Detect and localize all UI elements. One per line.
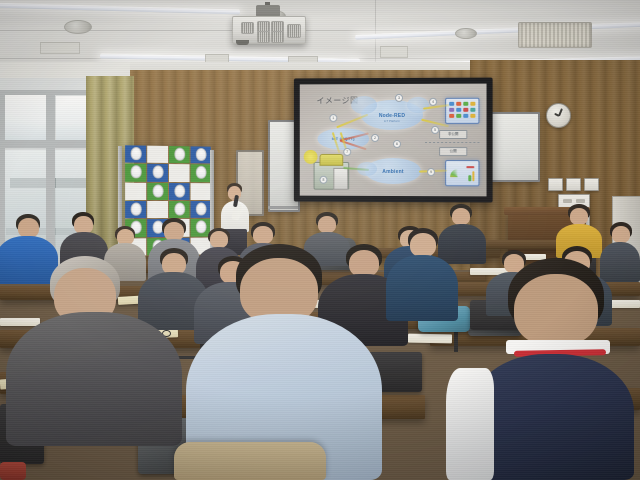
- banner-logo-icon: [195, 148, 206, 161]
- banner-cell: [125, 164, 146, 182]
- wall-control-panel[interactable]: [584, 178, 599, 191]
- banner-logo-icon: [152, 166, 163, 179]
- banner-cell: [169, 146, 190, 164]
- banner-logo-icon: [152, 184, 163, 197]
- photo-scene: イメージ図 Node-RED IoT Platform IoT (MQTT) A…: [0, 0, 640, 480]
- navy-vest: [470, 354, 634, 480]
- white-sleeve: [446, 368, 494, 480]
- banner-logo-icon: [195, 166, 206, 179]
- banner-cell: [147, 146, 168, 164]
- banner-logo-icon: [174, 148, 185, 161]
- ceiling-panel: [40, 42, 80, 54]
- step-number: 5: [431, 126, 439, 134]
- audience-member-front-right: [452, 258, 640, 480]
- sensor-solar-panel: [320, 154, 344, 166]
- window-pane: [56, 96, 90, 140]
- mini-label: 公開: [439, 147, 467, 156]
- banner-logo-icon: [195, 202, 206, 215]
- banner-cell: [147, 183, 168, 200]
- cloud-puff: [407, 97, 429, 113]
- air-conditioner-vent: [518, 22, 592, 48]
- ceiling-speaker-icon: [455, 28, 477, 39]
- chair-back-cushion: [174, 442, 326, 480]
- step-number: 1: [329, 114, 337, 122]
- step-number: 8: [320, 176, 328, 184]
- audience-member-front-left: [6, 256, 182, 446]
- banner-cell: [147, 164, 168, 182]
- device-tablet-apps: [445, 98, 479, 124]
- step-number: 6: [393, 140, 401, 148]
- wall-clock: [546, 103, 571, 128]
- banner-cell: [191, 201, 211, 218]
- whiteboard-tray: [268, 206, 298, 209]
- device-dashboard: [445, 160, 479, 186]
- audience-member: [386, 228, 458, 322]
- projector-lens: [236, 40, 249, 45]
- banner-logo-icon: [130, 165, 141, 178]
- banner-logo-icon: [174, 184, 185, 197]
- cloud-puff: [351, 96, 377, 114]
- banner-logo-icon: [174, 202, 185, 215]
- banner-cell: [191, 146, 211, 163]
- ceiling-speaker-icon: [64, 20, 92, 34]
- wall-control-panel[interactable]: [548, 178, 563, 191]
- server-icon: [333, 168, 348, 190]
- step-number: 9: [427, 168, 435, 176]
- head: [514, 274, 598, 346]
- handout-paper: [408, 334, 452, 344]
- cloud-sublabel: IoT Platform: [361, 119, 423, 123]
- step-number: 4: [429, 98, 437, 106]
- banner-cell: [125, 201, 146, 219]
- banner-cell: [125, 182, 146, 200]
- ceiling-panel: [380, 46, 408, 58]
- banner-cell: [125, 145, 146, 163]
- banner-cell: [147, 201, 168, 218]
- sun-icon: [304, 150, 318, 164]
- banner-cell: [191, 183, 211, 200]
- projection-screen: イメージ図 Node-RED IoT Platform IoT (MQTT) A…: [294, 78, 493, 203]
- mini-label: 非公開: [439, 130, 467, 139]
- step-number: 2: [371, 134, 379, 142]
- step-number: 7: [343, 148, 351, 156]
- banner-cell: [191, 165, 211, 182]
- banner-cell: [169, 164, 190, 181]
- banner-cell: [169, 201, 190, 218]
- wall-control-panel[interactable]: [566, 178, 581, 191]
- step-number: 3: [395, 94, 403, 102]
- banner-logo-icon: [130, 147, 141, 160]
- projected-slide: イメージ図 Node-RED IoT Platform IoT (MQTT) A…: [300, 84, 487, 197]
- banner-logo-icon: [130, 202, 141, 215]
- whiteboard: [490, 112, 540, 182]
- ceiling-seam: [375, 0, 376, 62]
- window-pane: [4, 94, 46, 140]
- foreground-object: [0, 462, 26, 480]
- banner-cell: [169, 183, 190, 200]
- grey-jacket: [6, 312, 182, 446]
- divider: [425, 142, 481, 143]
